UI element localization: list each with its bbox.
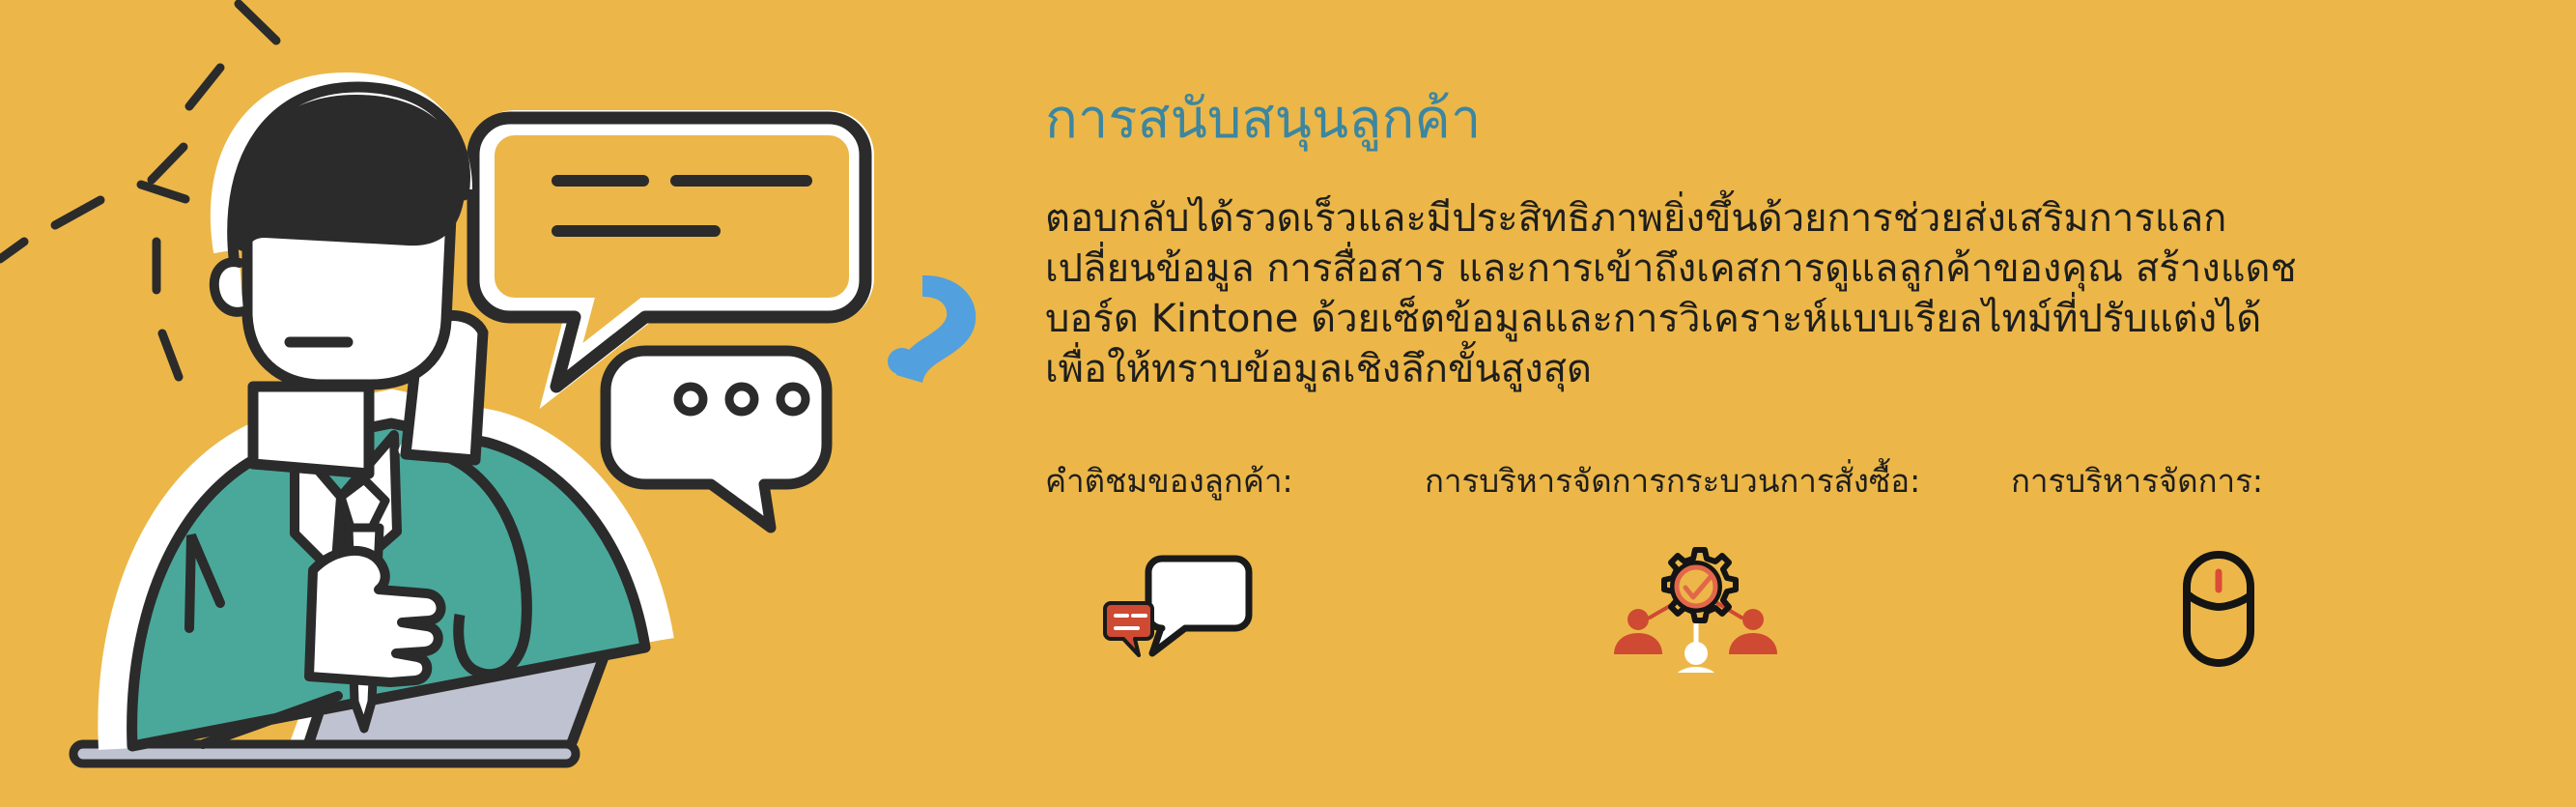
body-line-2: เปลี่ยนข้อมูล การสื่อสาร และการเข้าถึงเค…	[1045, 244, 2407, 294]
body-paragraph: ตอบกลับได้รวดเร็วและมีประสิทธิภาพยิ่งขึ้…	[1045, 193, 2407, 394]
body-line-3: บอร์ด Kintone ด้วยเซ็ตข้อมูลและการวิเครา…	[1045, 294, 2407, 344]
question-mark-icon	[888, 275, 976, 383]
customer-support-banner: การสนับสนุนลูกค้า ตอบกลับได้รวดเร็วและมี…	[0, 0, 2576, 807]
body-line-4: เพื่อให้ทราบข้อมูลเชิงลึกขั้นสูงสุด	[1045, 344, 2407, 394]
feature-list: คำติชมของลูกค้า:	[1045, 462, 2494, 791]
feature-label: การบริหารจัดการ:	[2011, 462, 2263, 501]
content-column: การสนับสนุนลูกค้า ตอบกลับได้รวดเร็วและมี…	[1045, 0, 2494, 807]
feature-label: การบริหารจัดการกระบวนการสั่งซื้อ:	[1425, 462, 1920, 501]
page-title: การสนับสนุนลูกค้า	[1045, 93, 1481, 147]
feature-order-process-management: การบริหารจัดการกระบวนการสั่งซื้อ:	[1425, 462, 2004, 791]
feature-label: คำติชมของลูกค้า:	[1045, 462, 1293, 501]
feature-customer-feedback: คำติชมของลูกค้า:	[1045, 462, 1431, 791]
feature-management: การบริหารจัดการ:	[2011, 462, 2417, 791]
gear-check-people-icon	[1611, 547, 1780, 677]
typing-speech-bubble-icon	[606, 351, 827, 528]
man-on-phone-at-laptop-illustration	[0, 0, 1024, 807]
body-line-1: ตอบกลับได้รวดเร็วและมีประสิทธิภาพยิ่งขึ้…	[1045, 193, 2407, 244]
chat-bubbles-icon	[1101, 547, 1256, 677]
computer-mouse-icon	[2173, 547, 2270, 677]
